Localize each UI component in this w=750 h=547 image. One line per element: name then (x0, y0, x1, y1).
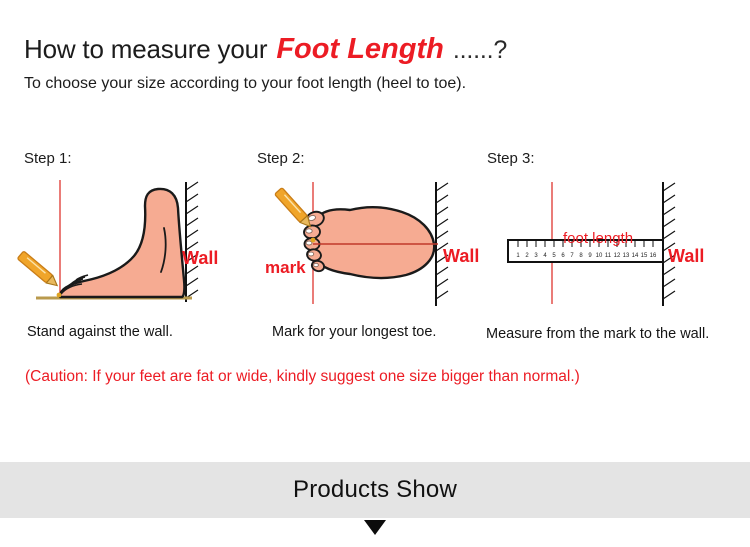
wall-hatching (186, 182, 198, 298)
page-subtitle: To choose your size according to your fo… (24, 75, 466, 93)
wall-hatching (663, 183, 675, 299)
title-prefix: How to measure your (24, 34, 267, 64)
svg-text:15: 15 (641, 253, 648, 259)
step-1-wall-label: Wall (182, 248, 218, 269)
step-2-wall-label: Wall (443, 246, 479, 267)
step-1-illustration (14, 176, 239, 311)
down-triangle-icon (364, 520, 386, 535)
caution-note: (Caution: If your feet are fat or wide, … (25, 368, 580, 386)
pencil-icon (275, 188, 315, 230)
wall-hatching (436, 183, 448, 299)
step-1-label: Step 1: (24, 150, 72, 167)
svg-text:14: 14 (632, 253, 639, 259)
step-2-label: Step 2: (257, 150, 305, 167)
title-highlight: Foot Length (274, 33, 446, 65)
step-3-label: Step 3: (487, 150, 535, 167)
foot-measurement-infographic: How to measure your Foot Length ......? … (0, 0, 750, 547)
step-3-measure-label: foot length (563, 230, 633, 247)
pencil-icon (17, 251, 60, 290)
svg-text:10: 10 (596, 253, 603, 259)
step-2-illustration (258, 178, 468, 310)
svg-text:11: 11 (605, 253, 612, 259)
svg-text:12: 12 (614, 253, 621, 259)
pencil-tip-mark (311, 238, 316, 243)
foot-top-view (311, 207, 434, 278)
step-1-caption: Stand against the wall. (27, 324, 173, 340)
step-2-caption: Mark for your longest toe. (272, 324, 436, 340)
step-3-wall-label: Wall (668, 246, 704, 267)
svg-text:16: 16 (650, 253, 657, 259)
svg-text:13: 13 (623, 253, 630, 259)
title-suffix: ......? (453, 36, 507, 64)
scroll-down-arrow-wrap (0, 520, 750, 535)
step-2-mark-label: mark (265, 258, 306, 278)
pencil-tip-mark (57, 293, 62, 298)
products-show-label: Products Show (0, 462, 750, 518)
step-3-caption: Measure from the mark to the wall. (486, 326, 709, 342)
page-title: How to measure your Foot Length ......? (24, 33, 507, 66)
